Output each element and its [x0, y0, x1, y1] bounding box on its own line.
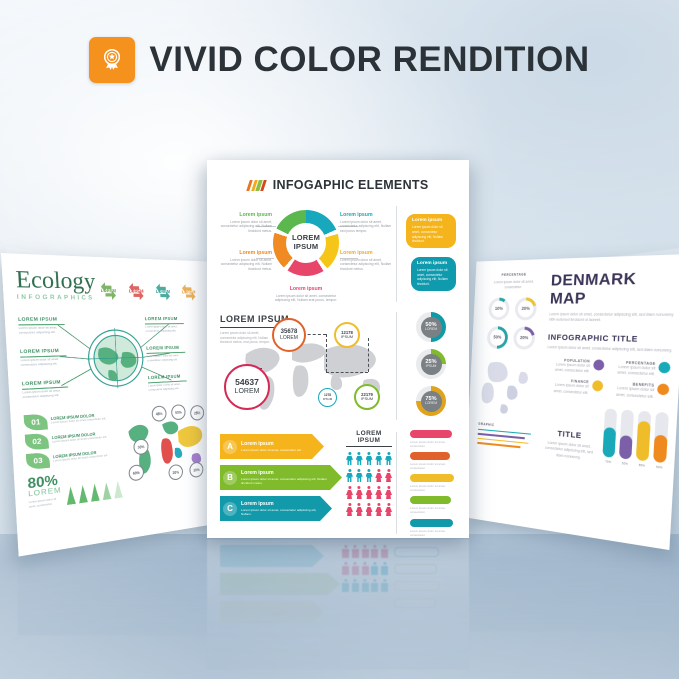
infographic-elements-poster[interactable]: INFOGAPHIC ELEMENTS LOREM IPSUM	[207, 160, 469, 538]
tube-bar	[653, 412, 669, 463]
percent-donut: 50%	[487, 326, 509, 349]
people-heading: LOREM IPSUM	[346, 430, 392, 444]
leaf-icon: 02	[25, 433, 49, 451]
floor-sheen	[0, 534, 679, 679]
person-icon	[346, 486, 353, 499]
globe-label-item: LOREM IPSUM Lorem ipsum dolor sit amet, …	[146, 345, 186, 364]
tube-bar	[602, 408, 617, 458]
ecology-subtitle: INFOGRAPHICS	[17, 294, 97, 302]
people-row	[346, 452, 392, 465]
bar-pill	[410, 452, 450, 460]
arrow-letter: C	[223, 502, 237, 516]
side-pill-group: Lorem ipsum Lorem ipsum dolor sit amet, …	[406, 214, 456, 291]
tree-icon	[78, 484, 88, 503]
award-ribbon-icon	[89, 37, 135, 83]
person-icon	[385, 486, 392, 499]
recycle-badge-label: LOREM	[129, 289, 144, 294]
globe-label-item: LOREM IPSUM Lorem ipsum dolor sit amet, …	[18, 316, 65, 336]
cycle-label-item: Lorem ipsum Lorem ipsum dolor sit amet, …	[340, 212, 396, 234]
person-icon	[356, 503, 363, 516]
bar-pill	[410, 496, 451, 504]
tube-bar	[636, 411, 651, 462]
arrow-letter: B	[223, 471, 237, 485]
tree-icon	[113, 480, 122, 498]
denmark-map-graphic	[479, 354, 539, 419]
bar-pill-item: Lorem ipsum dolor sit amet, consectetur.	[410, 474, 456, 492]
side-pill[interactable]: Lorem ipsum Lorem ipsum dolor sit amet, …	[406, 214, 456, 248]
percent-donut: 50%LOREM	[416, 312, 446, 342]
legend-dot	[659, 361, 672, 373]
percentage-donut-group: 10% 20% 50% 20%	[482, 297, 542, 350]
map-marker[interactable]: 35678 LOREM	[272, 318, 306, 352]
map-marker[interactable]: 1278 IPSUM	[318, 388, 337, 407]
globe-label: LOREM IPSUM	[20, 347, 67, 354]
map-marker[interactable]: 22179 IPSUM	[354, 384, 380, 410]
globe-label-item: LOREM IPSUM Lorem ipsum dolor sit amet, …	[22, 379, 69, 401]
person-icon	[366, 486, 373, 499]
percent-donut: 20%	[513, 326, 536, 349]
bar-pill-group: Lorem ipsum dolor sit amet, consectetur.…	[410, 430, 456, 537]
world-map-section: LOREM IPSUM Lorem ipsum dolor sit amet, …	[220, 310, 456, 422]
person-icon	[366, 452, 373, 465]
legend-group: POPULATION Lorem ipsum dolor sit amet, c…	[545, 357, 672, 401]
ecology-infographics-poster[interactable]: Ecology INFOGRAPHICS LOREM LOREM LOREM	[1, 253, 221, 556]
stat-block: 80% LOREM Lorem ipsum dolor sit amet, co…	[27, 472, 62, 509]
people-row	[346, 469, 392, 482]
leaf-icon: 03	[26, 452, 50, 470]
cycle-center-label: LOREM IPSUM	[286, 223, 326, 263]
arrow-banner[interactable]: B Lorem ipsum Lorem ipsum dolor sit amet…	[220, 465, 342, 490]
leaf-icon: 01	[24, 414, 48, 432]
percent-donut: 20%	[514, 297, 537, 320]
person-icon	[356, 469, 363, 482]
tree-icon	[102, 481, 111, 499]
recycle-badge: LOREM	[123, 280, 148, 304]
tube-label: 70%	[602, 459, 614, 465]
legend-dot	[593, 359, 604, 370]
people-row	[346, 503, 392, 516]
line-bar-group	[477, 428, 535, 449]
globe-label: LOREM IPSUM	[146, 345, 185, 351]
person-icon	[346, 469, 353, 482]
percent-donut-group: 50%LOREM 25%IPSUM 75%LOREM	[416, 312, 446, 416]
world-map-colored: 30% 60% 45% 50% 25% 20% 10%	[121, 403, 208, 492]
people-row	[346, 486, 392, 499]
person-icon	[356, 486, 363, 499]
legend-dot	[657, 384, 669, 396]
person-icon	[366, 503, 373, 516]
percent-donut: 25%IPSUM	[416, 349, 446, 379]
arrow-banner[interactable]: C Lorem ipsum Lorem ipsum dolor sit amet…	[220, 496, 332, 521]
tree-icon	[66, 486, 76, 505]
section-title: INFOGRAPHIC TITLE	[548, 332, 674, 345]
tree-row	[66, 480, 123, 505]
bar-pill	[410, 519, 453, 527]
legend-item: POPULATION Lorem ipsum dolor sit amet, c…	[546, 357, 604, 375]
cycle-label-item: Lorem ipsum Lorem ipsum dolor sit amet, …	[216, 212, 272, 234]
arrow-letter: A	[223, 440, 237, 454]
legend-item: FINANCE Lorem ipsum dolor sit amet, cons…	[545, 378, 603, 397]
person-icon	[375, 469, 382, 482]
legend-dot	[592, 380, 603, 392]
people-pictogram: LOREM IPSUM	[346, 430, 392, 516]
percent-donut: 10%	[488, 297, 510, 320]
person-icon	[346, 452, 353, 465]
recycle-badge: LOREM	[177, 281, 201, 304]
bar-pill-item: Lorem ipsum dolor sit amet, consectetur.	[410, 519, 456, 537]
header-banner: VIVID COLOR RENDITION	[0, 28, 679, 92]
globe-label-item: LOREM IPSUM Lorem ipsum dolor sit amet, …	[145, 316, 185, 334]
line-bar	[477, 442, 520, 448]
arrow-banner-group: A Lorem ipsum Lorem ipsum dolor sit amet…	[220, 434, 342, 521]
person-icon	[375, 503, 382, 516]
bars-title: TITLE	[543, 427, 598, 441]
legend-item: PERCENTAGE Lorem ipsum dolor sit amet, c…	[608, 360, 672, 379]
page-title: VIVID COLOR RENDITION	[149, 40, 589, 80]
arrow-banner[interactable]: A Lorem ipsum Lorem ipsum dolor sit amet…	[220, 434, 324, 459]
recycle-badge: LOREM	[95, 279, 122, 303]
cycle-donut-chart: LOREM IPSUM	[273, 210, 339, 276]
globe-diagram: LOREM IPSUM Lorem ipsum dolor sit amet, …	[18, 312, 205, 411]
poster-title: INFOGAPHIC ELEMENTS	[273, 178, 429, 192]
tube-label: 60%	[653, 464, 666, 470]
recycle-badge-label: LOREM	[156, 289, 170, 294]
cycle-label-item: Lorem ipsum Lorem ipsum dolor sit amet, …	[216, 250, 272, 272]
tube-label: 50%	[619, 460, 632, 466]
globe-label-item: LOREM IPSUM Lorem ipsum dolor sit amet, …	[148, 373, 187, 393]
person-icon	[385, 452, 392, 465]
stripes-icon	[246, 180, 267, 191]
denmark-title: DENMARK MAP	[550, 268, 678, 307]
bottom-section: A Lorem ipsum Lorem ipsum dolor sit amet…	[220, 426, 456, 538]
person-icon	[356, 452, 363, 465]
recycle-badge: LOREM	[151, 280, 175, 303]
legend-item: BENEFITS Lorem ipsum dolor sit amet, con…	[607, 381, 670, 401]
map-marker[interactable]: 54637 LOREM	[224, 364, 270, 410]
recycle-badge-label: LOREM	[101, 288, 116, 293]
bar-pill	[410, 430, 452, 438]
screenshot-stage: VIVID COLOR RENDITION Ecology INFOGRAPHI…	[0, 0, 679, 679]
side-pill[interactable]: Lorem ipsum Lorem ipsum dolor sit amet, …	[411, 257, 456, 291]
recycle-badge-label: LOREM	[182, 290, 196, 295]
person-icon	[375, 486, 382, 499]
bar-pill-item: Lorem ipsum dolor sit amet, consectetur.	[410, 452, 456, 470]
percentage-label: PERCENTAGE	[486, 272, 544, 278]
tube-label: 85%	[635, 462, 648, 468]
tube-bar	[619, 409, 634, 459]
denmark-map-poster[interactable]: PERCENTAGE Lorem ipsum dolor sit amet, c…	[464, 254, 679, 550]
map-marker[interactable]: 12178 IPSUM	[334, 322, 360, 348]
ecology-title: Ecology	[15, 268, 96, 294]
recycle-badge-group: LOREM LOREM LOREM LOREM	[95, 270, 201, 304]
globe-label: LOREM IPSUM	[18, 316, 65, 322]
bar-pill-item: Lorem ipsum dolor sit amet, consectetur.	[410, 430, 456, 448]
globe-label-item: LOREM IPSUM Lorem ipsum dolor sit amet, …	[20, 347, 67, 368]
poster-title-row: INFOGAPHIC ELEMENTS	[220, 178, 456, 192]
bar-pill	[410, 474, 454, 482]
cycle-label-item: Lorem ipsum Lorem ipsum dolor sit amet, …	[340, 250, 396, 272]
person-icon	[385, 503, 392, 516]
person-icon	[385, 469, 392, 482]
globe-label: LOREM IPSUM	[145, 316, 184, 321]
bar-pill-item: Lorem ipsum dolor sit amet, consectetur.	[410, 496, 456, 514]
tube-chart: 70% 50% 85%	[602, 408, 669, 470]
tree-icon	[90, 483, 100, 502]
person-icon	[346, 503, 353, 516]
cycle-label-item: Lorem ipsum Lorem ipsum dolor sit amet, …	[269, 286, 343, 303]
person-icon	[366, 469, 373, 482]
person-icon	[375, 452, 382, 465]
percent-donut: 75%LOREM	[416, 386, 446, 416]
